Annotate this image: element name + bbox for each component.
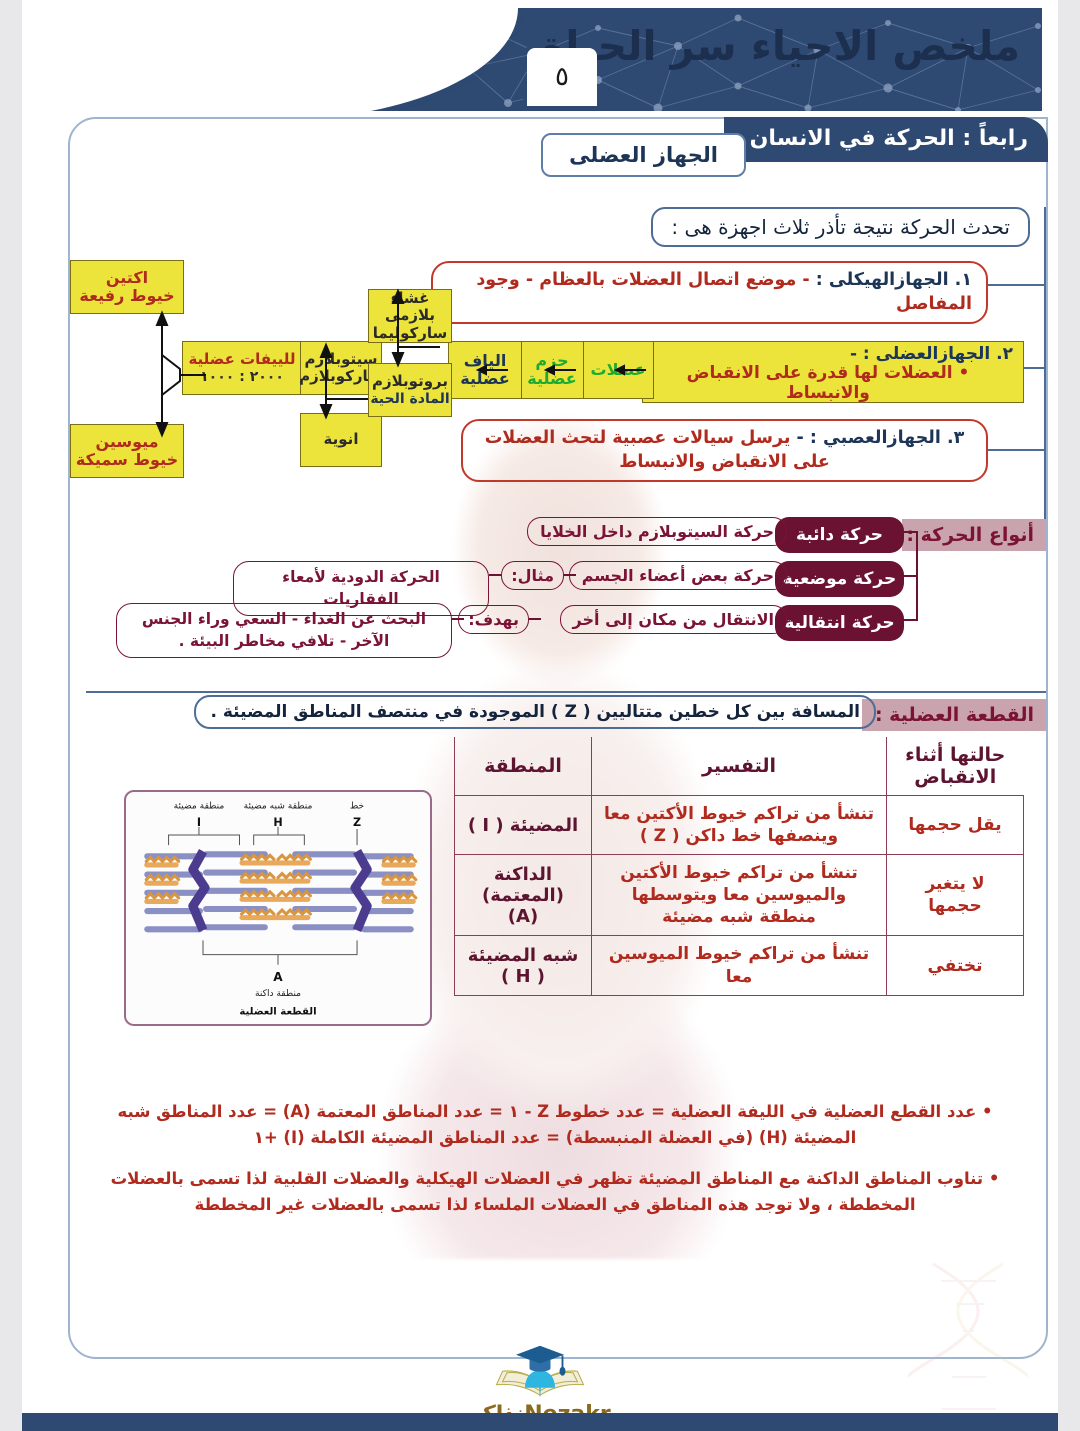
system-1-index: ١.	[955, 270, 972, 290]
movement-type-3: حركة انتقالية	[775, 605, 904, 641]
movement-tag-link-2	[564, 574, 576, 576]
section-title-chip: رابعاً : الحركة في الانسان	[724, 117, 1048, 162]
sarcomere-diagram-icon: منطقة مضيئة منطقة شبه مضيئة خط I H Z	[126, 792, 430, 1024]
svg-text:Z: Z	[353, 816, 361, 829]
table-row: يقل حجمها تنشأ من تراكم خيوط الأكتين معا…	[455, 796, 1024, 855]
movement-branch-2	[904, 575, 918, 577]
notes-list: • عدد القطع العضلية في الليفة العضلية = …	[90, 1099, 1020, 1219]
content-frame: رابعاً : الحركة في الانسان الجهاز العضلى…	[68, 117, 1048, 1359]
intro-statement: تحدث الحركة نتيجة تأذر ثلاث اجهزة هى :	[651, 207, 1030, 247]
sarcomere-top-rule	[86, 691, 1046, 693]
sarcomere-table: حالتها أثناء الانقباض التفسير المنطقة يق…	[454, 737, 1024, 996]
system-2-desc: • العضلات لها قدرة على الانقباض والانبسا…	[643, 364, 1013, 403]
col-header-region: المنطقة	[455, 737, 592, 796]
dna-watermark-icon	[908, 1259, 1028, 1431]
svg-text:A: A	[273, 970, 283, 984]
row-1-state: يقل حجمها	[887, 796, 1024, 855]
page-number-tab: ٥	[527, 48, 597, 106]
system-box-nervous: ٣. الجهازالعصبي : - يرسل سيالات عصبية لت…	[461, 419, 988, 482]
spine-vertical-line	[1044, 207, 1046, 537]
page-sheet: ملخص الاحياء سر الحياة ٥ رابعاً : الحركة…	[22, 0, 1058, 1431]
note-item-2: • تناوب المناطق الداكنة مع المناطق المضي…	[90, 1166, 1020, 1219]
row-3-explanation: تنشأ من تراكم خيوط الميوسين معا	[592, 936, 887, 995]
movement-note-link-3	[452, 618, 464, 620]
row-3-region: شبه المضيئة ( H )	[455, 936, 592, 995]
page-title: ملخص الاحياء سر الحياة	[590, 22, 1020, 70]
note-item-1: • عدد القطع العضلية في الليفة العضلية = …	[90, 1099, 1020, 1152]
svg-text:منطقة مضيئة: منطقة مضيئة	[174, 802, 225, 812]
table-header-row: حالتها أثناء الانقباض التفسير المنطقة	[455, 737, 1024, 796]
system-1-name: الجهازالهيكلى	[829, 270, 949, 290]
row-1-explanation: تنشأ من تراكم خيوط الأكتين معا وينصفها خ…	[592, 796, 887, 855]
system-3-index: ٣.	[947, 428, 964, 448]
movement-link-2	[787, 574, 799, 576]
movement-link-1	[787, 530, 799, 532]
system-3-sep: : -	[797, 428, 817, 448]
row-2-state: لا يتغير حجمها	[887, 855, 1024, 936]
system-1-sep: :	[816, 270, 823, 290]
sarcomere-heading: القطعة العضلية :	[862, 699, 1046, 731]
table-row: لا يتغير حجمها تنشأ من تراكم خيوط الأكتي…	[455, 855, 1024, 936]
row-2-explanation: تنشأ من تراكم خيوط الأكتين والميوسين معا…	[592, 855, 887, 936]
footer-bar	[22, 1413, 1058, 1431]
spine-branch-1	[986, 284, 1046, 286]
movement-desc-3: الانتقال من مكان إلى أخر	[560, 605, 787, 634]
movement-link-3	[787, 618, 799, 620]
system-2-sep: : -	[850, 344, 870, 364]
col-header-state: حالتها أثناء الانقباض	[887, 737, 1024, 796]
movement-note-link-2	[489, 574, 501, 576]
row-2-region: الداكنة (المعتمة) (A)	[455, 855, 592, 936]
table-row: تختفي تنشأ من تراكم خيوط الميوسين معا شب…	[455, 936, 1024, 995]
system-3-name: الجهازالعصبي	[823, 428, 941, 448]
system-2-name: الجهازالعضلى	[876, 344, 991, 364]
system-box-skeletal: ١. الجهازالهيكلى : - موضع اتصال العضلات …	[431, 261, 988, 324]
svg-text:منطقة داكنة: منطقة داكنة	[255, 989, 301, 999]
col-header-explanation: التفسير	[592, 737, 887, 796]
subsection-title-chip: الجهاز العضلى	[541, 133, 746, 177]
movement-branch-3	[904, 619, 918, 621]
movement-types-heading: أنواع الحركة :	[902, 519, 1046, 551]
movement-desc-1: حركة السيتوبلازم داخل الخلايا	[527, 517, 787, 546]
system-3-desc: يرسل سيالات عصبية لتحث العضلات على الانق…	[485, 428, 830, 472]
movement-branch-1	[904, 531, 918, 533]
graduate-book-logo-icon	[480, 1336, 600, 1402]
spine-branch-3	[986, 449, 1046, 451]
movement-type-2: حركة موضعية	[775, 561, 904, 597]
row-3-state: تختفي	[887, 936, 1024, 995]
movement-tag-link-3	[529, 618, 541, 620]
svg-text:القطعة العضلية: القطعة العضلية	[239, 1006, 316, 1017]
sarcomere-figure: منطقة مضيئة منطقة شبه مضيئة خط I H Z	[124, 790, 432, 1026]
chain-arrows-icon	[446, 359, 654, 381]
movement-type-1: حركة دائبة	[775, 517, 904, 553]
movement-desc-2: حركة بعض أعضاء الجسم	[569, 561, 787, 590]
row-1-region: المضيئة ( I )	[455, 796, 592, 855]
movement-tag-2: مثال:	[501, 561, 564, 590]
system-2-index: ٢.	[996, 344, 1013, 364]
svg-text:منطقة شبه مضيئة: منطقة شبه مضيئة	[244, 802, 313, 812]
sarcomere-definition: المسافة بين كل خطين متتاليين ( Z ) الموج…	[194, 695, 876, 729]
structure-connector-arrows-icon	[68, 251, 460, 491]
movement-note-3: البحث عن الغذاء - السعي وراء الجنس الآخر…	[116, 603, 452, 658]
system-box-muscular: ٢. الجهازالعضلى : - • العضلات لها قدرة ع…	[642, 341, 1024, 403]
svg-text:خط: خط	[350, 802, 364, 812]
